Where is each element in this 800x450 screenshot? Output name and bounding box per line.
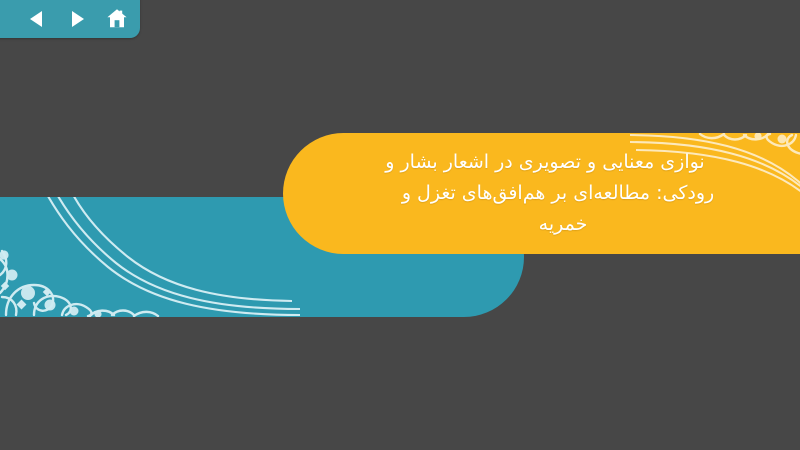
presentation-slide: نوازی معنایی و تصویری در اشعار بشار و رو… (0, 0, 800, 450)
home-icon (105, 7, 129, 31)
navigation-bar (0, 0, 140, 38)
back-icon (26, 8, 48, 30)
forward-icon (66, 8, 88, 30)
orange-title-band (283, 133, 800, 254)
arabesque-ornament-icon (630, 133, 800, 254)
arabesque-ornament-icon (0, 197, 300, 317)
home-button[interactable] (104, 6, 130, 32)
forward-button[interactable] (64, 6, 90, 32)
back-button[interactable] (24, 6, 50, 32)
